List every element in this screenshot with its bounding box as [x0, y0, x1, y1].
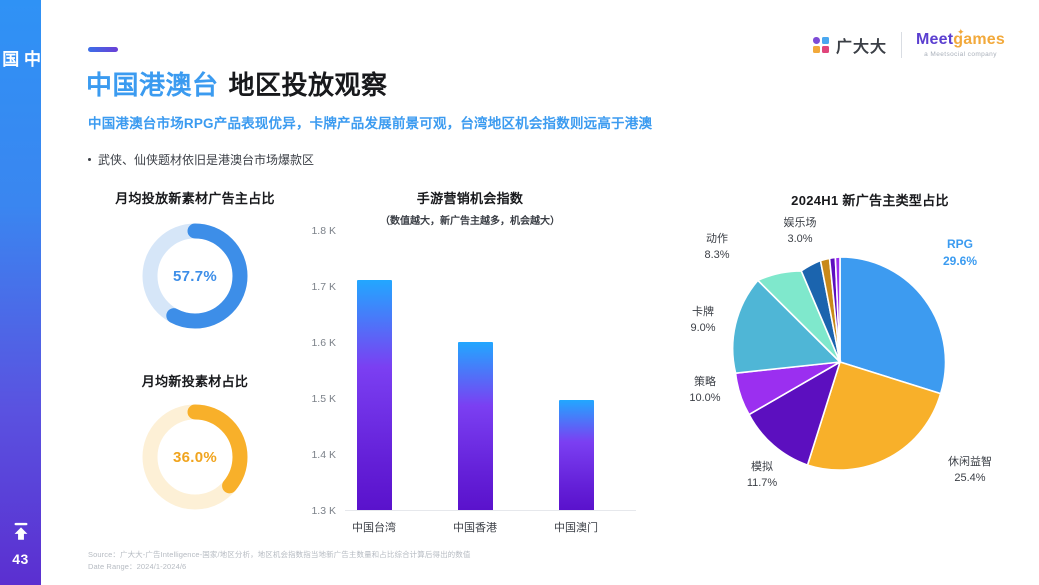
meetgames-star-icon: ✦	[957, 28, 965, 37]
bar-taiwan[interactable]	[357, 280, 392, 510]
bar-xlabel-macau: 中国澳门	[536, 519, 616, 535]
pie-label-kapai-name: 卡牌	[692, 306, 714, 318]
pie-label-xiuxian-value: 25.4%	[920, 471, 1020, 487]
bar-xlabel-hongkong: 中国香港	[435, 519, 515, 535]
meetgames-logo: Meetgames ✦ a Meetsocial company	[916, 32, 1005, 59]
date-range-line: Date Range：2024/1-2024/6	[88, 561, 470, 573]
bar-ytick-1700: 1.7 K	[300, 281, 336, 293]
page-title-rest: 地区投放观察	[219, 70, 388, 100]
pie-label-celue-value: 10.0%	[668, 391, 742, 407]
upload-arrow-icon[interactable]	[10, 521, 32, 543]
donut1-title: 月均投放新素材广告主占比	[95, 188, 295, 207]
meetgames-tagline: a Meetsocial company	[924, 52, 997, 59]
pie-label-xiuxian: 休闲益智 25.4%	[920, 455, 1020, 487]
bar-ytick-1500: 1.5 K	[300, 393, 336, 405]
bar-ytick-1400: 1.4 K	[300, 449, 336, 461]
page-title-highlight: 中国港澳台	[86, 70, 219, 100]
donut1-center-value: 57.7%	[136, 217, 254, 335]
pie-label-rpg-name: RPG	[947, 237, 973, 251]
gdd-logo: 广大大	[813, 33, 887, 57]
donut2-title: 月均新投素材占比	[105, 371, 285, 390]
page-number: 43	[0, 551, 41, 567]
source-line: Source：广大大-广告Intelligence-国家/地区分析，地区机会指数…	[88, 549, 470, 561]
pie-label-dongzuo-name: 动作	[706, 233, 728, 245]
rail-footer: 43	[0, 521, 41, 567]
source-footer: Source：广大大-广告Intelligence-国家/地区分析，地区机会指数…	[88, 549, 470, 574]
bar-hongkong[interactable]	[458, 342, 493, 510]
pie-label-dongzuo: 动作 8.3%	[680, 232, 754, 264]
bar-macau[interactable]	[559, 400, 594, 510]
meetgames-part1: Meet	[916, 31, 953, 48]
rail-vertical-title: 中国港澳台	[0, 50, 41, 69]
pie-label-dongzuo-value: 8.3%	[680, 248, 754, 264]
donut2-center-value: 36.0%	[136, 398, 254, 516]
meetgames-wordmark: Meetgames ✦	[916, 32, 1005, 48]
pie-label-kapai: 卡牌 9.0%	[666, 305, 740, 337]
gdd-logo-text: 广大大	[836, 33, 887, 57]
pie-label-moni-name: 模拟	[751, 461, 773, 473]
bar-chart: 1.8 K 1.7 K 1.6 K 1.5 K 1.4 K 1.3 K 中国台湾…	[300, 225, 640, 525]
pie-label-moni-value: 11.7%	[722, 476, 802, 492]
bullet-dot-icon	[88, 158, 91, 161]
bar-chart-title: 手游营销机会指数	[370, 188, 570, 207]
bullet-point: 武侠、仙侠题材依旧是港澳台市场爆款区	[88, 151, 314, 168]
slide-root: 中国港澳台 43 中国港澳台地区投放观察 中国港澳台市场RPG产品表现优异，卡牌…	[0, 0, 1039, 585]
bar-ytick-1600: 1.6 K	[300, 337, 336, 349]
pie-label-rpg-value: 29.6%	[915, 253, 1005, 270]
bar-xlabel-taiwan: 中国台湾	[334, 519, 414, 535]
page-subtitle: 中国港澳台市场RPG产品表现优异，卡牌产品发展前景可观，台湾地区机会指数则远高于…	[88, 112, 652, 132]
pie-label-rpg: RPG 29.6%	[915, 236, 1005, 271]
pie-label-yulechang: 娱乐场 3.0%	[760, 216, 840, 248]
bar-ytick-1300: 1.3 K	[300, 505, 336, 517]
title-accent-bar	[88, 47, 118, 52]
bullet-text: 武侠、仙侠题材依旧是港澳台市场爆款区	[98, 151, 314, 168]
pie-label-kapai-value: 9.0%	[666, 321, 740, 337]
pie-label-moni: 模拟 11.7%	[722, 460, 802, 492]
pie-label-yulechang-name: 娱乐场	[784, 217, 817, 229]
pie-label-yulechang-value: 3.0%	[760, 232, 840, 248]
brand-logos: 广大大 Meetgames ✦ a Meetsocial company	[813, 32, 1005, 59]
pie-label-xiuxian-name: 休闲益智	[948, 456, 992, 468]
pie-label-celue-name: 策略	[694, 376, 716, 388]
donut-chart-new-creative-advertisers: 57.7%	[136, 217, 254, 335]
left-rail: 中国港澳台 43	[0, 0, 41, 585]
logo-divider	[901, 32, 902, 58]
bar-ytick-1800: 1.8 K	[300, 225, 336, 237]
page-title: 中国港澳台地区投放观察	[86, 65, 388, 102]
pie-chart: RPG 29.6% 休闲益智 25.4% 模拟 11.7% 策略 10.0% 卡…	[660, 200, 1039, 540]
pie-label-celue: 策略 10.0%	[668, 375, 742, 407]
donut-chart-new-creative-share: 36.0%	[136, 398, 254, 516]
bar-x-axis	[345, 510, 636, 511]
gdd-mark-icon	[813, 37, 830, 54]
